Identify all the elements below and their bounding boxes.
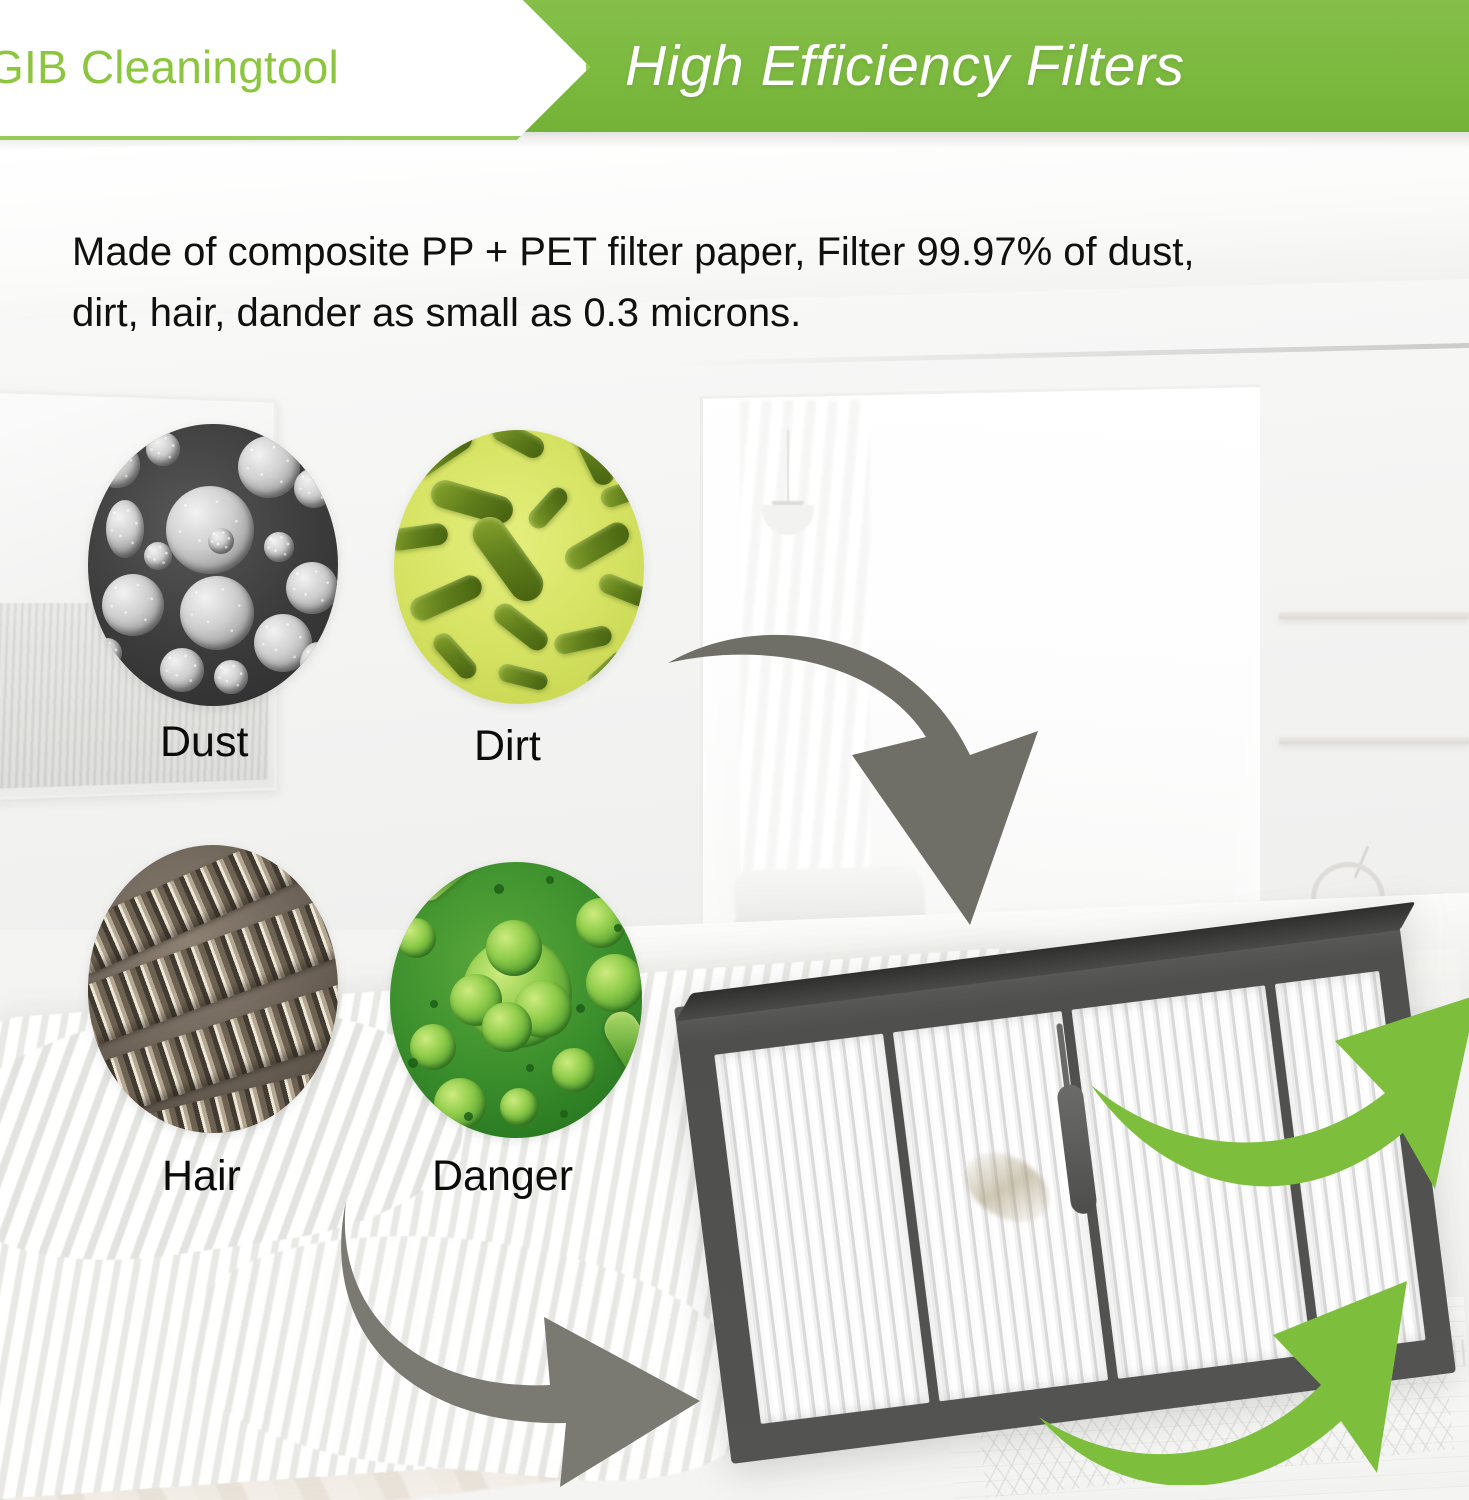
contaminant-label-danger: Danger: [432, 1152, 573, 1201]
hepa-filter-cartridge: [674, 916, 1456, 1464]
header-banner: GIB Cleaningtool High Efficiency Filters: [0, 0, 1469, 132]
curtain: [740, 400, 870, 920]
pendant-lamp-cord: [787, 430, 789, 506]
description-line-2: dirt, hair, dander as small as 0.3 micro…: [72, 283, 1392, 344]
wall-shelf-upper: [1279, 612, 1469, 619]
contaminant-label-hair: Hair: [162, 1152, 241, 1201]
hair-fiber-circle: [88, 845, 338, 1133]
product-infographic: GIB Cleaningtool High Efficiency Filters…: [0, 0, 1469, 1500]
danger-germs-circle: [390, 862, 642, 1138]
wall-shelf-lower: [1279, 737, 1469, 744]
contaminant-label-dirt: Dirt: [474, 722, 541, 771]
brand-name: GIB Cleaningtool: [0, 40, 339, 94]
dust-particles-circle: [88, 424, 338, 706]
filter-pleat-panel: [1071, 985, 1311, 1379]
banner-title: High Efficiency Filters: [625, 0, 1185, 132]
product-description: Made of composite PP + PET filter paper,…: [72, 222, 1392, 344]
contaminant-label-dust: Dust: [160, 718, 248, 767]
dirt-bacteria-circle: [394, 430, 644, 704]
description-line-1: Made of composite PP + PET filter paper,…: [72, 222, 1392, 283]
brand-chevron: GIB Cleaningtool: [0, 0, 590, 140]
